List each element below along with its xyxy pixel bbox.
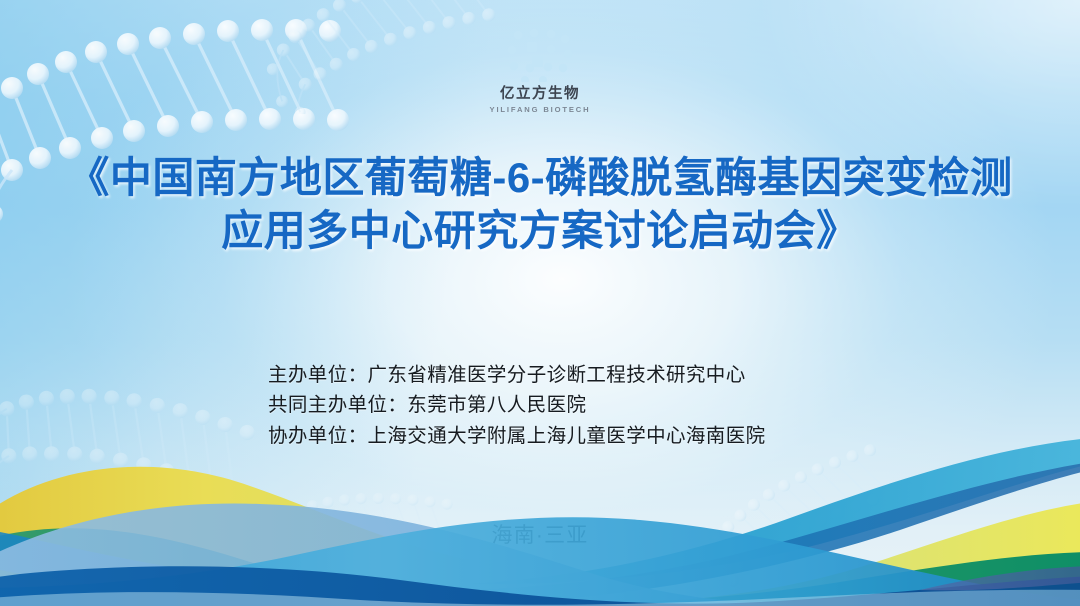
wave-decoration [0, 426, 1080, 606]
title-line-1: 《中国南方地区葡萄糖-6-磷酸脱氢酶基因突变检测 [56, 152, 1024, 205]
molecular-grid-logo-icon [507, 28, 573, 82]
brand-logo: 亿立方生物 YILIFANG BIOTECH [0, 28, 1080, 113]
organizer-host: 主办单位：广东省精准医学分子诊断工程技术研究中心 [268, 360, 766, 390]
page-title: 《中国南方地区葡萄糖-6-磷酸脱氢酶基因突变检测 应用多中心研究方案讨论启动会》 [0, 152, 1080, 258]
brand-name-cn: 亿立方生物 [500, 87, 580, 102]
title-line-2: 应用多中心研究方案讨论启动会》 [56, 205, 1024, 258]
organizer-co-host: 共同主办单位：东莞市第八人民医院 [268, 390, 766, 420]
conference-poster: 亿立方生物 YILIFANG BIOTECH 《中国南方地区葡萄糖-6-磷酸脱氢… [0, 0, 1080, 606]
brand-name-latin: YILIFANG BIOTECH [490, 106, 591, 114]
